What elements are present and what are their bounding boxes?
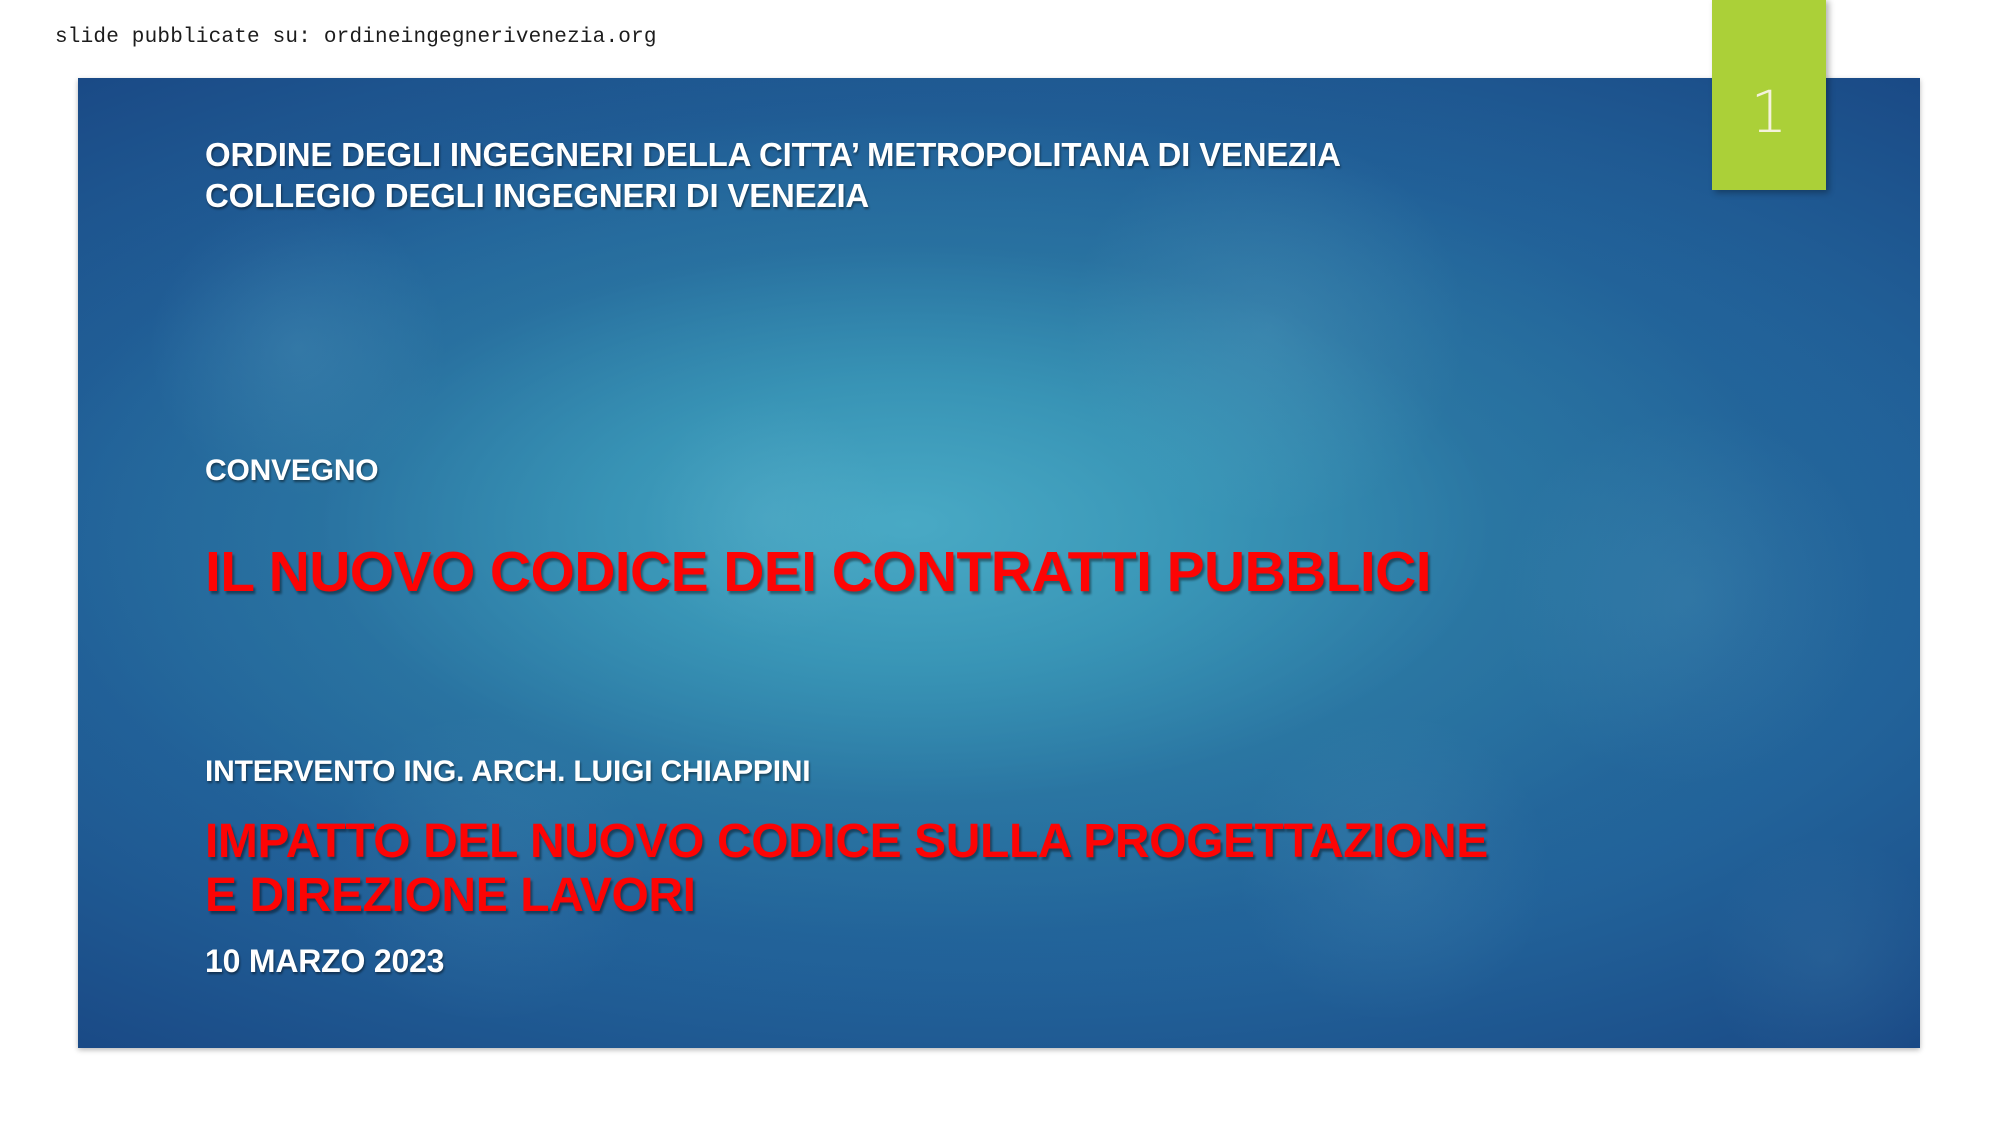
speaker-line: INTERVENTO ING. ARCH. LUIGI CHIAPPINI bbox=[205, 755, 810, 789]
event-kind-label: CONVEGNO bbox=[205, 454, 378, 488]
published-slides-caption: slide pubblicate su: ordineingegnerivene… bbox=[55, 26, 657, 49]
organization-heading: ORDINE DEGLI INGEGNERI DELLA CITTA’ METR… bbox=[205, 134, 1341, 217]
presentation-slide: ORDINE DEGLI INGEGNERI DELLA CITTA’ METR… bbox=[78, 78, 1920, 1048]
subject-title: IMPATTO DEL NUOVO CODICE SULLA PROGETTAZ… bbox=[205, 815, 1488, 923]
slide-number-text: 1 bbox=[1751, 83, 1788, 141]
slide-text-container: ORDINE DEGLI INGEGNERI DELLA CITTA’ METR… bbox=[205, 78, 1865, 1048]
slide-number-badge: 1 bbox=[1712, 0, 1826, 190]
event-date: 10 MARZO 2023 bbox=[205, 944, 444, 980]
main-title: IL NUOVO CODICE DEI CONTRATTI PUBBLICI bbox=[205, 541, 1431, 605]
